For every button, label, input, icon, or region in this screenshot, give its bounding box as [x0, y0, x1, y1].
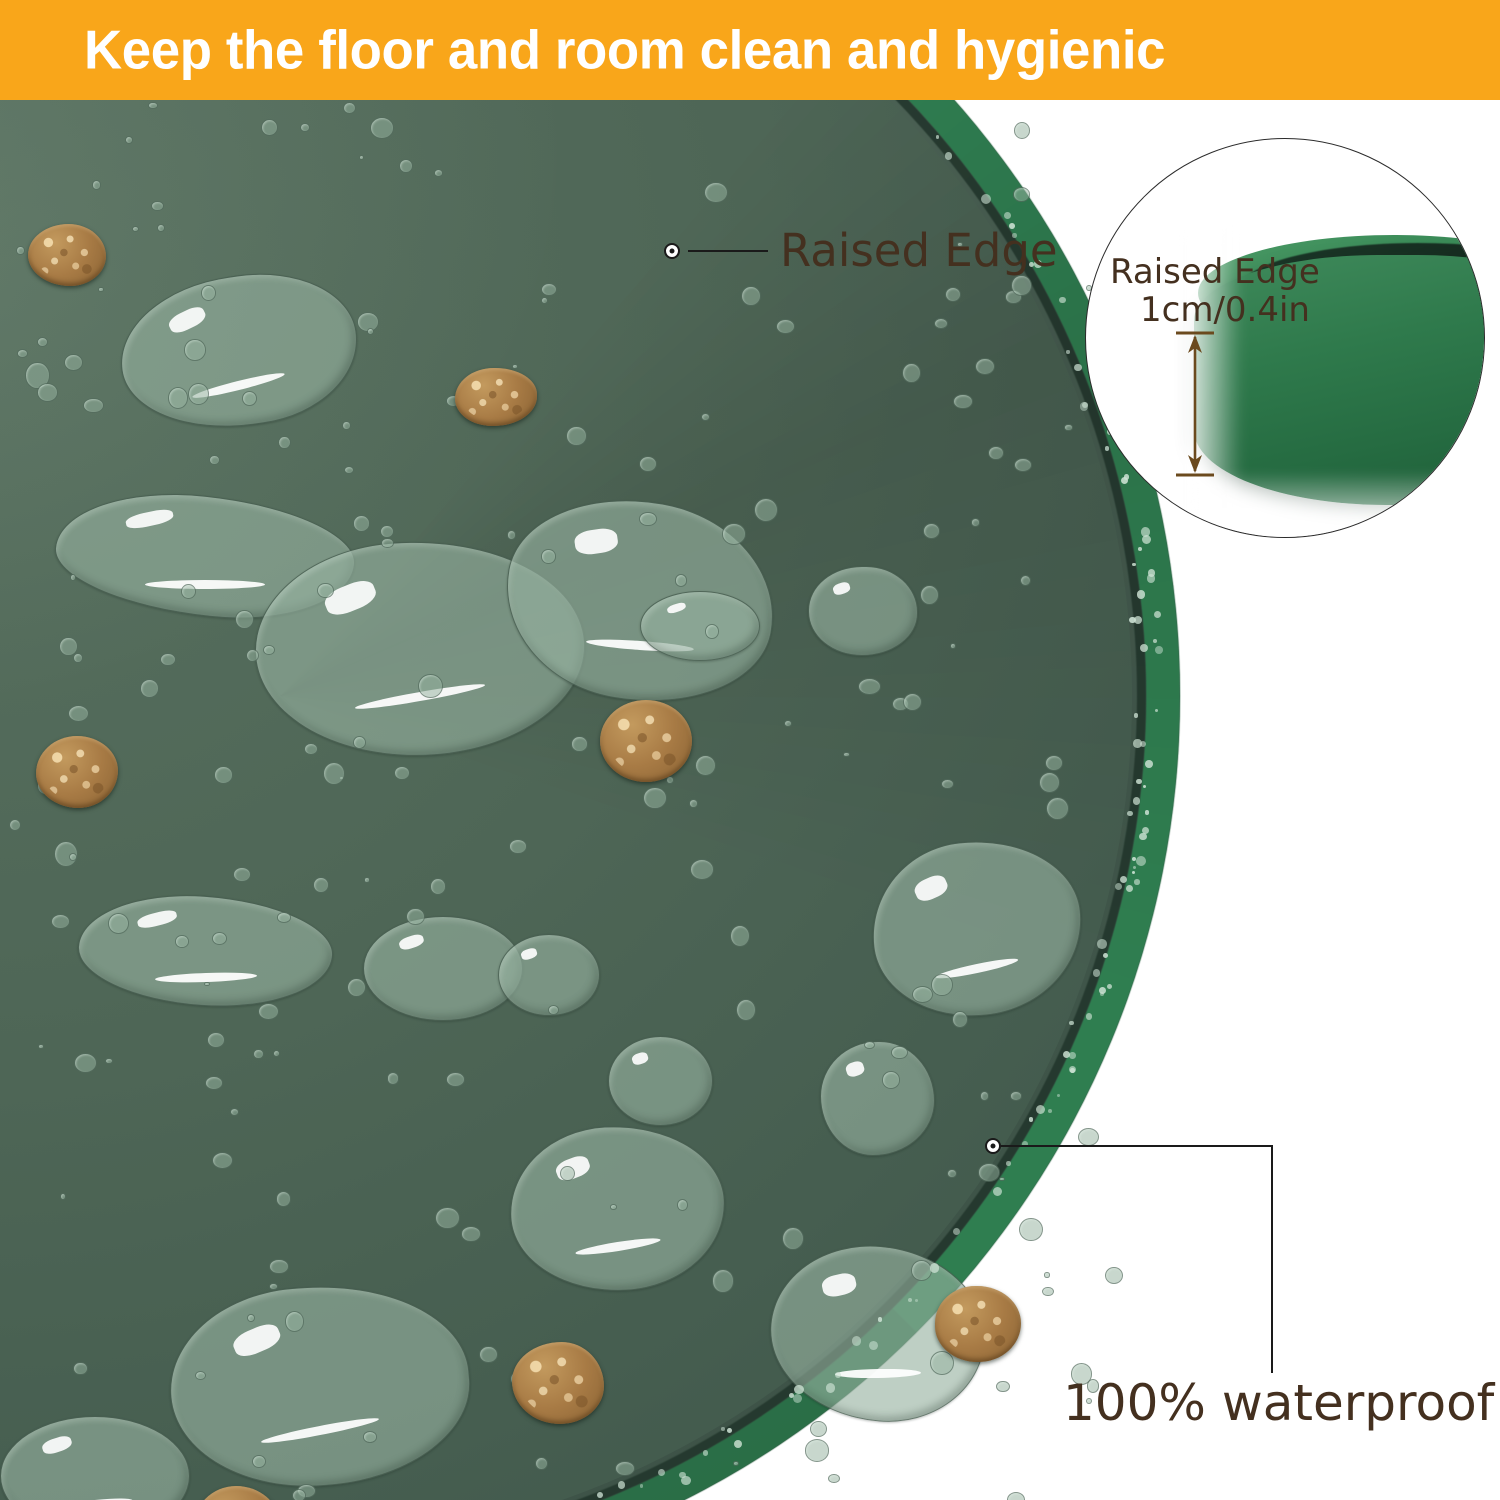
micro-droplet — [1042, 1287, 1053, 1297]
rim-speckle — [1107, 984, 1112, 989]
rim-speckle — [1134, 713, 1138, 717]
rim-speckle — [1100, 992, 1104, 996]
rim-speckle — [1059, 297, 1066, 304]
inset-title: Raised Edge — [1110, 253, 1320, 291]
micro-droplet — [1007, 1492, 1025, 1500]
rim-speckle — [1136, 779, 1141, 784]
rim-speckle — [1066, 350, 1069, 353]
rim-speckle — [1138, 547, 1142, 551]
dimension-arrow-icon — [1172, 329, 1218, 479]
rim-speckle — [1069, 1052, 1076, 1059]
rim-speckle — [1048, 1109, 1052, 1113]
waterproof-label: 100% waterproof — [1063, 1374, 1494, 1432]
rim-speckle — [1136, 856, 1146, 866]
tray-rim-shadow — [0, 96, 1180, 1500]
rim-speckle — [721, 1427, 724, 1430]
rim-speckle — [945, 152, 952, 159]
rim-speckle — [1133, 797, 1140, 804]
rim-speckle — [1126, 885, 1133, 892]
rim-speckle — [1132, 563, 1135, 566]
rim-speckle — [953, 1228, 960, 1235]
rim-speckle — [734, 1440, 742, 1448]
rim-speckle — [835, 1372, 841, 1378]
rim-speckle — [930, 1263, 939, 1272]
rim-speckle — [1142, 827, 1149, 834]
inset-bottom-fade — [1186, 471, 1484, 537]
waterproof-leader-vertical — [1271, 1145, 1273, 1373]
rim-speckle — [1145, 810, 1149, 814]
rim-speckle — [1155, 709, 1158, 712]
banner-title: Keep the floor and room clean and hygien… — [84, 23, 1165, 78]
micro-droplet — [1014, 122, 1030, 139]
rim-speckle — [1145, 760, 1153, 768]
inset-photo — [1086, 139, 1484, 537]
rim-speckle — [703, 1450, 709, 1456]
header-banner: Keep the floor and room clean and hygien… — [0, 0, 1500, 100]
rim-speckle — [1074, 364, 1081, 371]
micro-droplet — [828, 1474, 840, 1484]
rim-speckle — [727, 1428, 732, 1433]
micro-droplet — [805, 1439, 830, 1461]
rim-speckle — [1006, 1161, 1011, 1166]
micro-droplet — [996, 1381, 1010, 1393]
rim-speckle — [1029, 1117, 1034, 1122]
waterproof-leader-horizontal — [1001, 1145, 1273, 1147]
rim-speckle — [1139, 833, 1147, 841]
micro-droplet — [1044, 1272, 1049, 1277]
rim-speckle — [1134, 879, 1140, 885]
micro-droplet — [930, 1351, 954, 1375]
rim-speckle — [1097, 939, 1107, 949]
waterproof-marker-dot — [985, 1138, 1001, 1154]
rim-speckle — [936, 135, 940, 139]
micro-droplet — [1078, 1128, 1099, 1146]
raised-edge-marker-dot — [664, 243, 680, 259]
rim-speckle — [1153, 639, 1157, 643]
rim-speckle — [1004, 212, 1011, 219]
rim-speckle — [1155, 646, 1163, 654]
rim-speckle — [1140, 644, 1148, 652]
micro-droplet — [1019, 1218, 1043, 1241]
raised-edge-detail-inset: Raised Edge 1cm/0.4in — [1085, 138, 1485, 538]
rim-speckle — [793, 1394, 802, 1403]
rim-speckle — [1133, 739, 1141, 747]
product-feature-image: Keep the floor and room clean and hygien… — [0, 0, 1500, 1500]
rim-speckle — [1070, 1068, 1074, 1072]
micro-droplet — [1105, 1267, 1123, 1284]
micro-droplet — [810, 1421, 827, 1437]
raised-edge-label: Raised Edge — [780, 224, 1058, 277]
rim-speckle — [597, 1492, 603, 1498]
inset-subtitle: 1cm/0.4in — [1140, 291, 1310, 329]
rim-speckle — [618, 1481, 625, 1488]
raised-edge-leader-line — [688, 250, 768, 252]
rim-speckle — [794, 1385, 804, 1395]
